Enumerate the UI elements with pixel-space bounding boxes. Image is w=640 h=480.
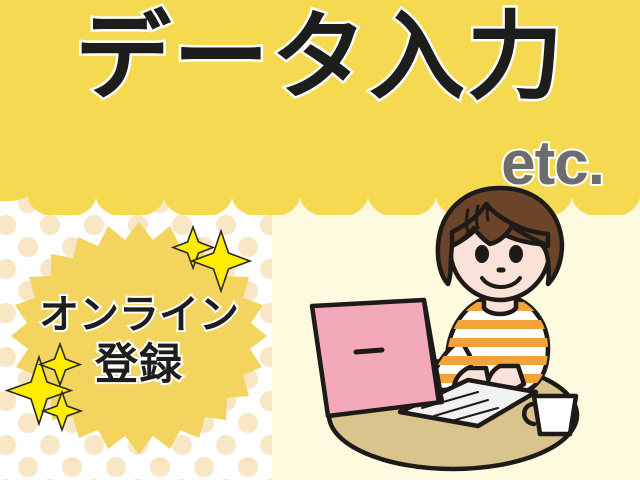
starburst-shape <box>11 222 267 454</box>
eye <box>475 245 489 263</box>
starburst-badge[interactable] <box>8 218 270 466</box>
eye <box>509 245 523 263</box>
illustration-woman-laptop <box>272 180 640 480</box>
poster-root: データ入力 etc. オンライン 登録 <box>0 0 640 480</box>
coffee-mug <box>534 396 576 434</box>
laptop-logo <box>356 350 382 352</box>
laptop-screen <box>312 300 442 416</box>
